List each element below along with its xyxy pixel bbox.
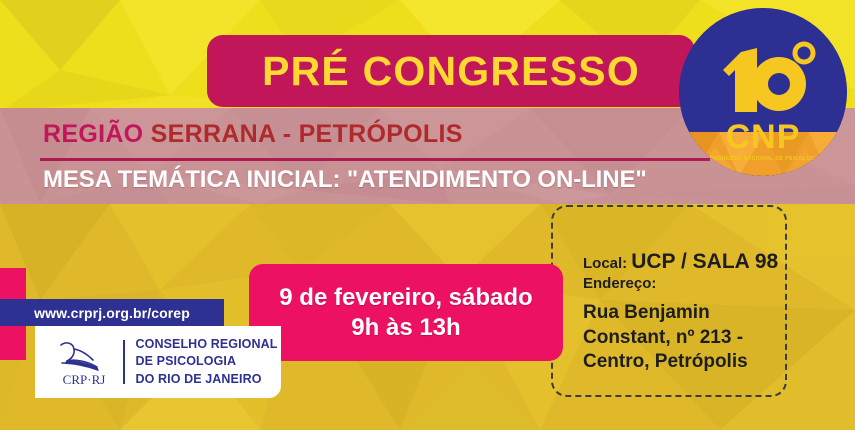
svg-text:CNP: CNP [726, 118, 801, 156]
crp-name-line-3: DO RIO DE JANEIRO [136, 371, 278, 388]
venue-value: UCP / SALA 98 [631, 250, 778, 273]
crp-full-name: CONSELHO REGIONAL DE PSICOLOGIA DO RIO D… [136, 336, 278, 388]
crp-divider [123, 340, 125, 384]
region-label-primary: REGIÃO [43, 120, 151, 148]
region-subtitle: REGIÃO SERRANA - PETRÓPOLIS [43, 120, 463, 149]
address-line-1: Rua Benjamin [583, 301, 788, 326]
venue-label: Local: [583, 255, 627, 272]
cnp-logo: CNP CONGRESSO NACIONAL DE PSICOLOGIA [679, 8, 847, 176]
address-line-3: Centro, Petrópolis [583, 350, 788, 375]
svg-text:CONGRESSO NACIONAL DE PSICOLOG: CONGRESSO NACIONAL DE PSICOLOGIA [705, 156, 821, 162]
website-url: www.crprj.org.br/corep [34, 305, 190, 321]
date-time-box: 9 de fevereiro, sábado 9h às 13h [249, 264, 563, 361]
theme-subtitle: MESA TEMÁTICA INICIAL: "ATENDIMENTO ON-L… [43, 166, 647, 194]
crp-rj-logo-card: CRP·RJ CONSELHO REGIONAL DE PSICOLOGIA D… [35, 326, 281, 398]
event-promo-banner: PRÉ CONGRESSO REGIÃO SERRANA - PETRÓPOLI… [0, 0, 855, 430]
crp-name-line-2: DE PSICOLOGIA [136, 353, 278, 370]
main-title-banner: PRÉ CONGRESSO [207, 35, 695, 107]
venue-row: Local:UCP / SALA 98 [583, 250, 788, 274]
address-content: Local:UCP / SALA 98 Endereço: Rua Benjam… [583, 250, 788, 375]
website-url-bar[interactable]: www.crprj.org.br/corep [0, 299, 224, 326]
divider-rule [40, 158, 710, 161]
region-label-secondary: SERRANA - PETRÓPOLIS [151, 120, 463, 148]
address-street: Rua Benjamin Constant, nº 213 - Centro, … [583, 301, 788, 375]
address-label: Endereço: [583, 275, 788, 292]
svg-text:CRP·RJ: CRP·RJ [63, 372, 106, 387]
page-title: PRÉ CONGRESSO [262, 48, 640, 95]
event-time: 9h às 13h [351, 314, 460, 342]
event-date: 9 de fevereiro, sábado [279, 284, 532, 312]
crp-name-line-1: CONSELHO REGIONAL [136, 336, 278, 353]
crp-bird-book-icon: CRP·RJ [47, 337, 121, 387]
address-line-2: Constant, nº 213 - [583, 326, 788, 351]
